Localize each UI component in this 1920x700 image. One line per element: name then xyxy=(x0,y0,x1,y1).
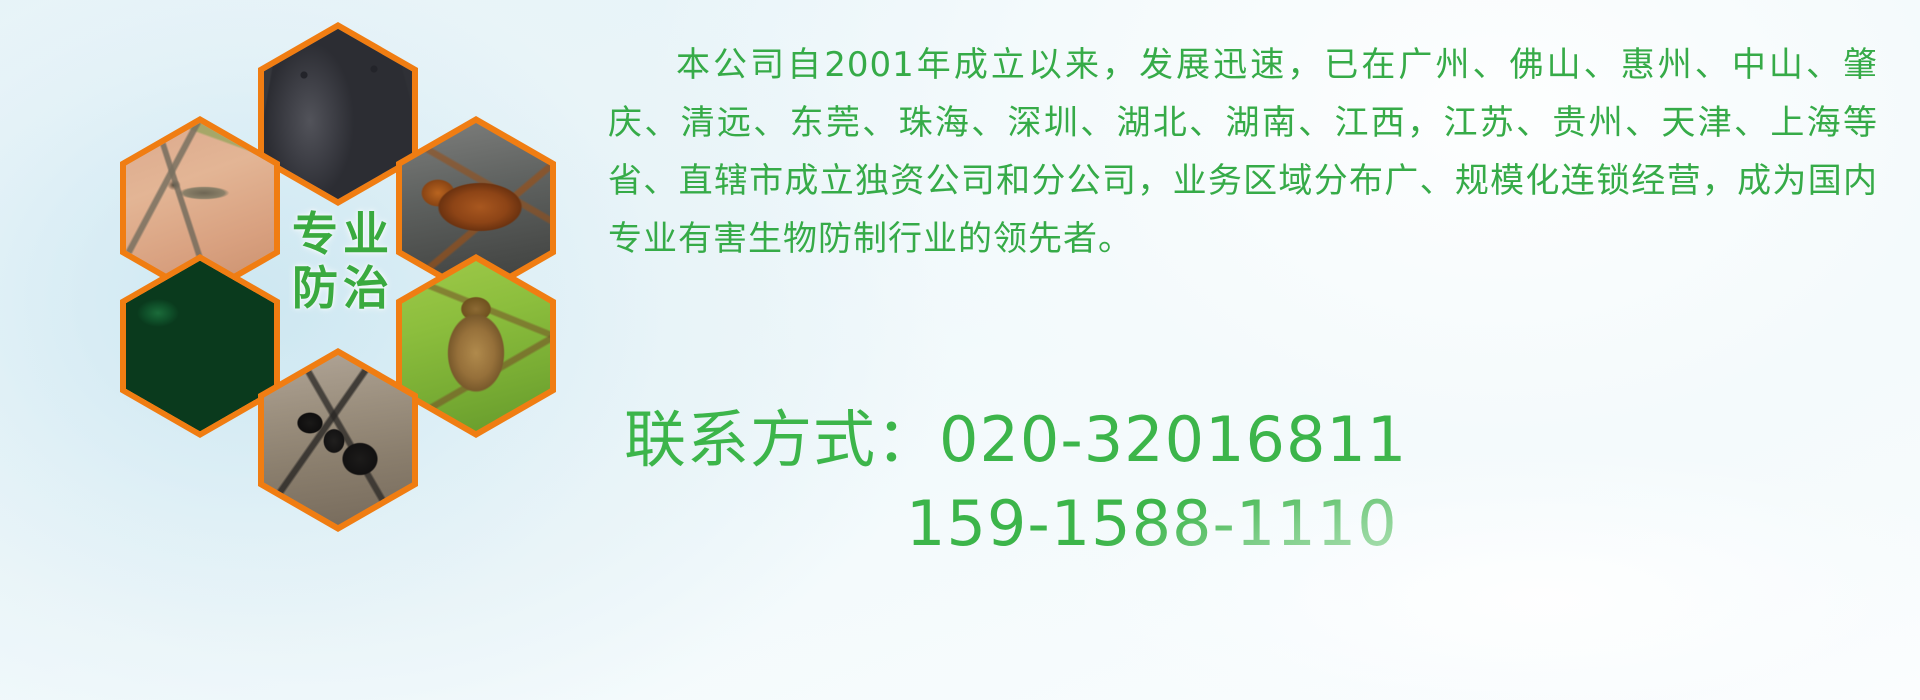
contact-phone-mobile[interactable]: 159-1588-1110 xyxy=(624,482,1904,566)
slogan: 专业 防治 xyxy=(263,207,423,316)
rats-icon xyxy=(264,29,412,199)
company-description: 本公司自2001年成立以来，发展迅速，已在广州、佛山、惠州、中山、肇庆、清远、东… xyxy=(608,36,1878,268)
hex-ant-photo-inner xyxy=(264,355,412,525)
hex-rats-photo-inner xyxy=(264,29,412,199)
company-description-text: 本公司自2001年成立以来，发展迅速，已在广州、佛山、惠州、中山、肇庆、清远、东… xyxy=(608,36,1878,268)
contact-block: 联系方式：020-32016811 159-1588-1110 xyxy=(624,398,1904,566)
slogan-line-1: 专业 xyxy=(263,207,423,261)
hexagon-photo-cluster: 专业 防治 xyxy=(88,12,588,572)
pest-control-banner: 专业 防治 本公司自2001年成立以来，发展迅速，已在广州、佛山、惠州、中山、肇… xyxy=(0,0,1920,700)
contact-label: 联系方式： xyxy=(624,403,939,476)
ant-icon xyxy=(264,355,412,525)
hex-flies-photo-inner xyxy=(126,261,274,431)
flies-icon xyxy=(126,261,274,431)
hex-ant-photo xyxy=(258,348,418,532)
slogan-line-2: 防治 xyxy=(263,261,423,315)
hex-flies-photo xyxy=(120,254,280,438)
hex-rats-photo xyxy=(258,22,418,206)
hex-stinkbug-photo-inner xyxy=(402,261,550,431)
contact-phone-landline[interactable]: 020-32016811 xyxy=(939,403,1407,476)
stinkbug-icon xyxy=(402,261,550,431)
contact-line-primary: 联系方式：020-32016811 xyxy=(624,398,1904,482)
